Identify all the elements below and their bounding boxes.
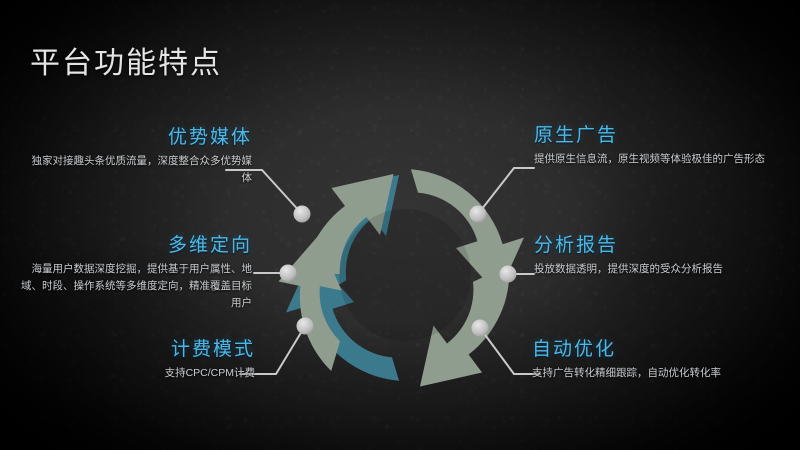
feature-description-optimize: 支持广告转化精细跟踪，自动优化转化率 [532,365,784,382]
feature-block-optimize: 自动优化 支持广告转化精细跟踪，自动优化转化率 [532,338,784,382]
feature-heading-targeting: 多维定向 [18,234,252,258]
feature-block-targeting: 多维定向 海量用户数据深度挖掘，提供基于用户属性、地域、时段、操作系统等多维度定… [18,234,252,312]
feature-description-billing: 支持CPC/CPM计费 [60,365,255,382]
feature-block-billing: 计费模式 支持CPC/CPM计费 [60,338,255,382]
feature-description-report: 投放数据透明，提供深度的受众分析报告 [534,261,784,278]
feature-heading-billing: 计费模式 [60,338,255,362]
feature-block-media: 优势媒体 独家对接趣头条优质流量，深度整合众多优势媒体 [24,126,252,187]
feature-heading-optimize: 自动优化 [532,338,784,362]
feature-heading-media: 优势媒体 [24,126,252,150]
feature-heading-report: 分析报告 [534,234,784,258]
feature-block-report: 分析报告 投放数据透明，提供深度的受众分析报告 [534,234,784,278]
feature-description-native: 提供原生信息流，原生视频等体验极佳的广告形态 [534,151,782,168]
page-title: 平台功能特点 [30,38,222,82]
feature-description-targeting: 海量用户数据深度挖掘，提供基于用户属性、地域、时段、操作系统等多维度定向，精准覆… [18,261,252,312]
feature-block-native: 原生广告 提供原生信息流，原生视频等体验极佳的广告形态 [534,124,782,168]
slide-canvas: 平台功能特点 [0,0,800,450]
feature-description-media: 独家对接趣头条优质流量，深度整合众多优势媒体 [24,153,252,187]
feature-heading-native: 原生广告 [534,124,782,148]
